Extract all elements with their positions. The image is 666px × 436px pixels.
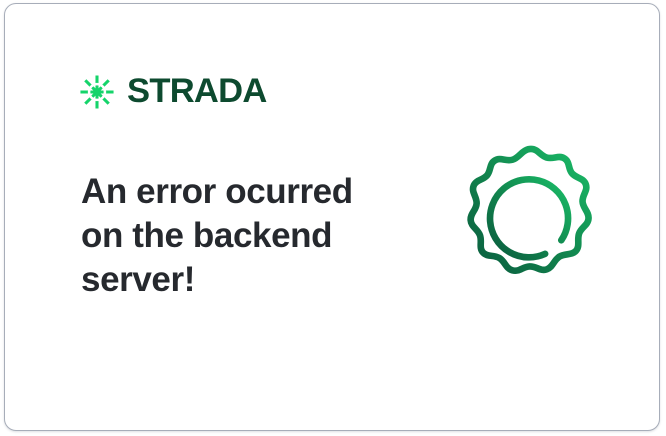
strada-wordmark-text: STRADA xyxy=(127,74,267,110)
strada-wordmark: STRADA xyxy=(127,74,285,110)
gear-inner-ring xyxy=(490,179,568,257)
error-headline: An error ocurred on the backend server! xyxy=(81,170,381,302)
screenshot-stage: STRADA An error ocurred on the backend s… xyxy=(0,0,666,436)
error-card: STRADA An error ocurred on the backend s… xyxy=(4,3,660,431)
brand-lockup: STRADA xyxy=(79,74,285,110)
strada-asterisk-mark-icon xyxy=(79,74,115,110)
gear-icon xyxy=(448,137,614,307)
